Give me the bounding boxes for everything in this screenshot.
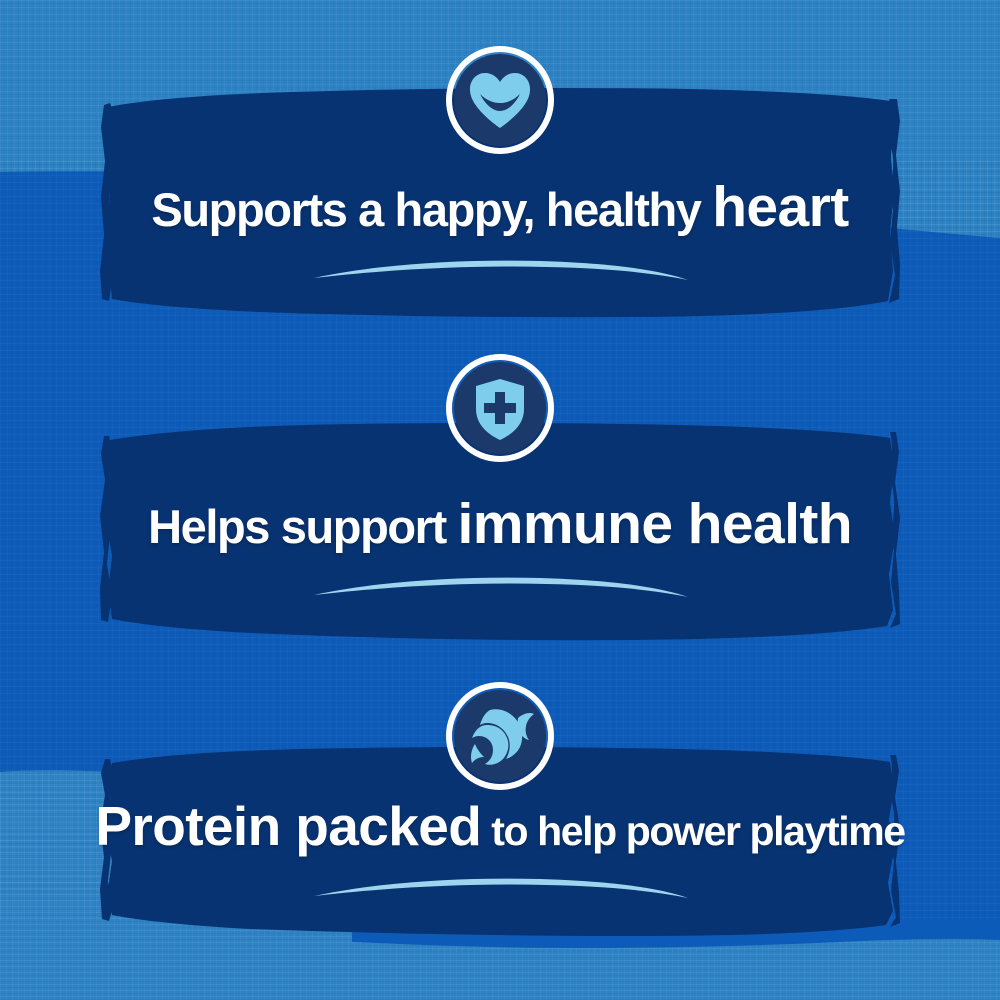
swoosh-divider (310, 575, 690, 601)
headline-trail-text: to help power playtime (481, 808, 904, 854)
headline-emphasis-text: heart (712, 175, 848, 239)
swoosh-divider (310, 876, 690, 902)
benefit-headline-immune: Helps support immune health (148, 496, 852, 553)
benefit-headline-protein: Protein packed to help power playtime (95, 799, 904, 854)
benefit-headline-heart: Supports a happy, healthy heart (151, 179, 848, 236)
leaping-fish-icon (444, 680, 556, 792)
headline-emphasis-text: immune health (458, 492, 852, 556)
headline-emphasis-text: Protein packed (95, 795, 481, 857)
headline-lead-text: Helps support (148, 500, 457, 553)
swoosh-divider (310, 258, 690, 284)
smiling-heart-icon (444, 44, 556, 156)
headline-lead-text: Supports a happy, healthy (151, 183, 712, 236)
shield-cross-icon (444, 352, 556, 464)
